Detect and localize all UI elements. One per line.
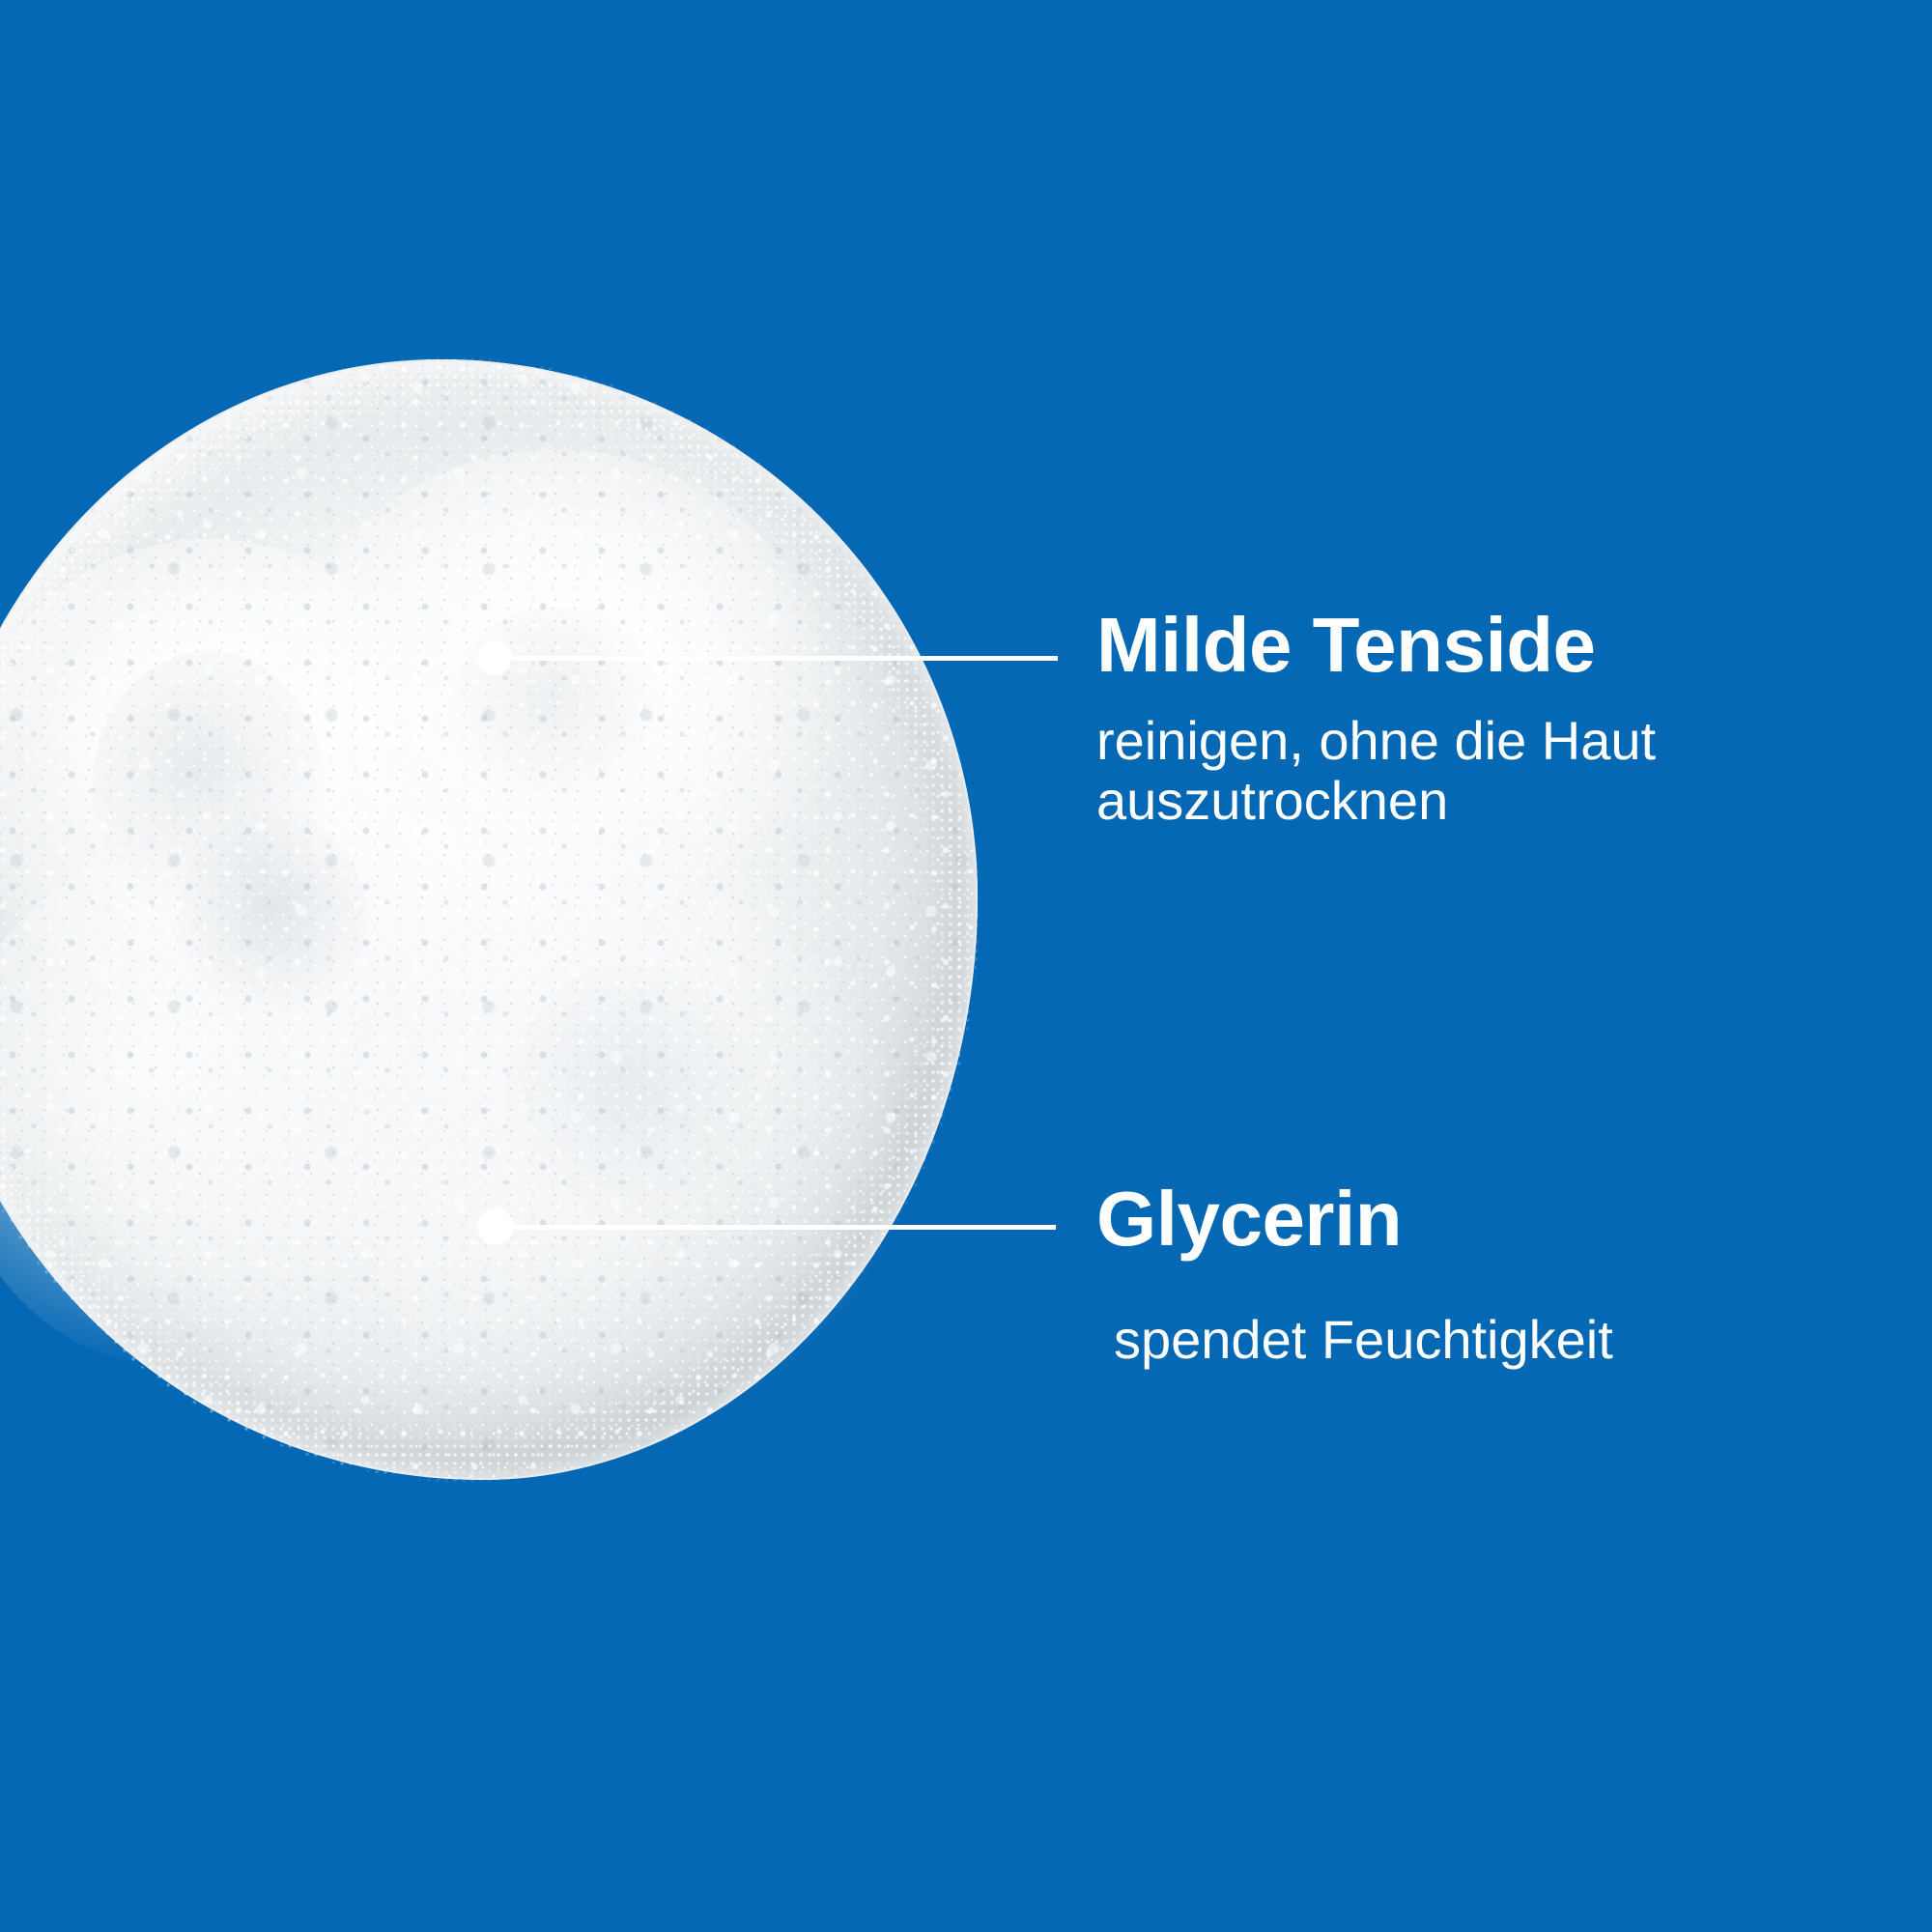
annotation-body-glycerin: spendet Feuchtigkeit	[1114, 1310, 1613, 1370]
callout-leader-line-glycerin	[514, 1225, 1056, 1230]
product-benefit-graphic: Milde Tenside reinigen, ohne die Haut au…	[0, 0, 1932, 1932]
foam-blob-image	[0, 0, 1932, 1932]
annotation-title-glycerin: Glycerin	[1096, 1180, 1613, 1258]
annotation-glycerin: Glycerin spendet Feuchtigkeit	[1096, 1180, 1613, 1370]
annotation-title-milde-tenside: Milde Tenside	[1096, 607, 1656, 684]
callout-marker-dot-milde-tenside[interactable]	[477, 640, 512, 675]
foam-blob-shape	[0, 359, 978, 1480]
annotation-body-milde-tenside: reinigen, ohne die Haut auszutrocknen	[1096, 711, 1656, 830]
callout-marker-dot-glycerin[interactable]	[477, 1208, 514, 1245]
foam-body	[0, 359, 978, 1480]
foam-rim-grain	[0, 355, 981, 1484]
callout-leader-line-milde-tenside	[512, 656, 1058, 661]
annotation-milde-tenside: Milde Tenside reinigen, ohne die Haut au…	[1096, 607, 1656, 830]
